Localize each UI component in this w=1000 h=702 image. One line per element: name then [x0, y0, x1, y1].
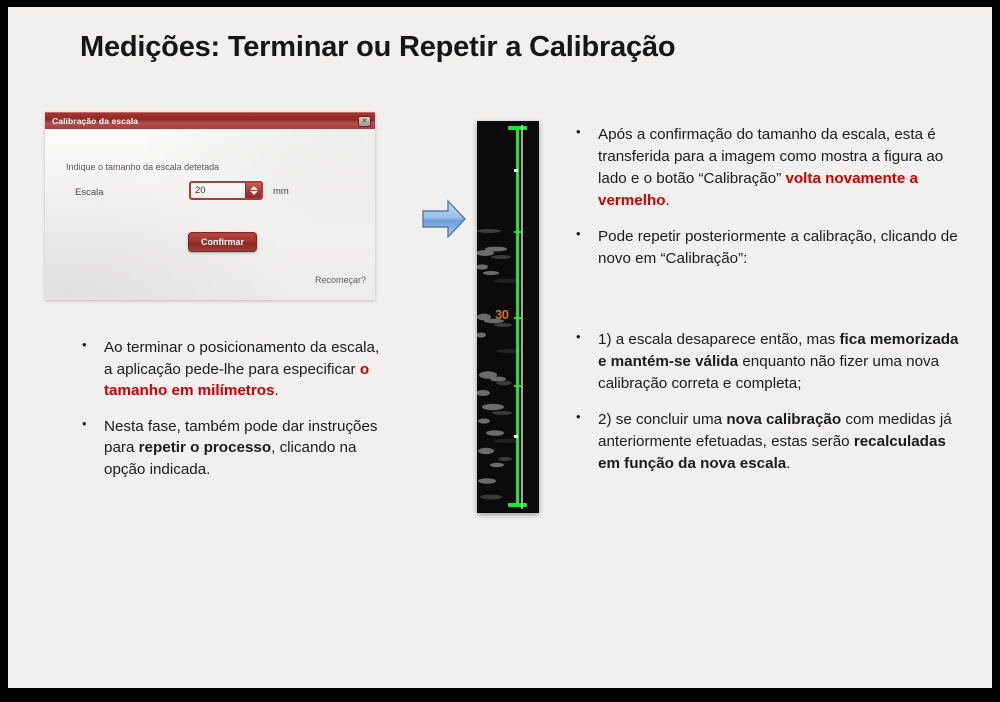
right-bullet-list-bottom: 1) a escala desaparece então, mas fica m… — [570, 329, 968, 489]
scale-tick — [514, 231, 521, 233]
scale-value-label: 30 — [495, 307, 508, 322]
left-bullet-list: Ao terminar o posicionamento da escala, … — [76, 337, 386, 494]
escala-input[interactable] — [191, 183, 245, 198]
scale-cap-top — [508, 126, 527, 130]
confirm-button[interactable]: Confirmar — [188, 232, 257, 252]
quantity-stepper[interactable] — [189, 181, 263, 200]
list-item-text: nova calibração — [726, 411, 841, 428]
list-item: Após a confirmação do tamanho da escala,… — [570, 124, 968, 212]
dialog-titlebar: Calibração da escala ✕ — [45, 112, 375, 130]
scale-tick — [514, 385, 521, 387]
slide-canvas: Medições: Terminar ou Repetir a Calibraç… — [8, 7, 992, 688]
slide-frame: Medições: Terminar ou Repetir a Calibraç… — [0, 0, 1000, 702]
list-item-text: . — [666, 192, 670, 209]
list-item-text: repetir o processo — [139, 439, 272, 456]
scale-cap-bottom — [508, 503, 527, 507]
list-item: Nesta fase, também pode dar instruções p… — [76, 416, 386, 481]
scale-tick — [514, 435, 518, 438]
list-item-text: . — [274, 382, 278, 399]
ultrasound-image: 30 — [477, 121, 539, 513]
dialog-body: Indique o tamanho da escala detetada Esc… — [45, 129, 375, 300]
list-item-text: 2) se concluir uma — [598, 411, 726, 428]
dialog-title: Calibração da escala — [52, 116, 138, 126]
spinner-buttons[interactable] — [245, 183, 261, 198]
calibration-dialog: Calibração da escala ✕ Indique o tamanho… — [45, 112, 375, 300]
restart-link[interactable]: Recomeçar? — [315, 275, 366, 285]
unit-label: mm — [273, 186, 289, 197]
scale-tick — [514, 317, 521, 319]
list-item: 1) a escala desaparece então, mas fica m… — [570, 329, 968, 395]
list-item: 2) se concluir uma nova calibração com m… — [570, 409, 968, 475]
right-arrow-icon — [421, 198, 467, 240]
list-item-text: Pode repetir posteriormente a calibração… — [598, 228, 958, 267]
chevron-up-icon[interactable] — [250, 186, 258, 190]
chevron-down-icon[interactable] — [250, 191, 258, 195]
list-item: Ao terminar o posicionamento da escala, … — [76, 337, 386, 402]
scale-tick — [514, 169, 518, 172]
escala-field-label: Escala — [75, 187, 104, 198]
page-title: Medições: Terminar ou Repetir a Calibraç… — [80, 31, 880, 64]
list-item-text: Ao terminar o posicionamento da escala, … — [104, 339, 379, 378]
dialog-hint-text: Indique o tamanho da escala detetada — [66, 162, 219, 172]
list-item-text: 1) a escala desaparece então, mas — [598, 331, 839, 348]
probe-reference-line — [521, 125, 523, 509]
close-icon[interactable]: ✕ — [358, 116, 371, 127]
list-item-text: . — [786, 455, 790, 472]
right-bullet-list-top: Após a confirmação do tamanho da escala,… — [570, 124, 968, 284]
list-item: Pode repetir posteriormente a calibração… — [570, 226, 968, 270]
